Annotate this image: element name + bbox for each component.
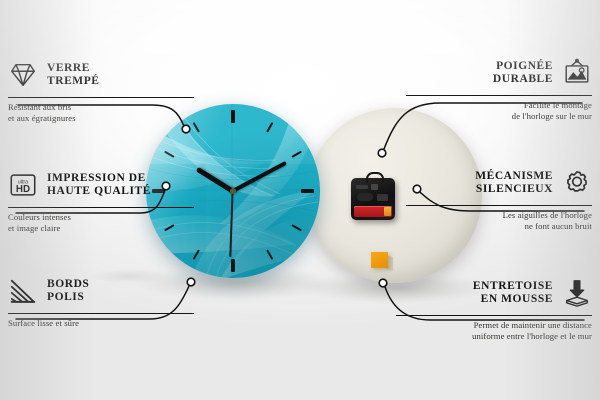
feature-impression-haute-qualite[interactable]: ultra HD IMPRESSION DE HAUTE QUALITÉ Cou…	[8, 166, 194, 233]
feature-verre-trempe[interactable]: VERRE TREMPÉ Résistant aux bris et aux é…	[8, 56, 194, 123]
feature-title: ENTRETOISE EN MOUSSE	[396, 280, 553, 307]
feature-description: Facilite le montage de l'horloge sur le …	[406, 100, 592, 121]
feature-title: MÉCANISME SILENCIEUX	[406, 170, 553, 197]
svg-text:HD: HD	[16, 184, 30, 195]
divider	[396, 315, 592, 316]
feature-bords-polis[interactable]: BORDS POLIS Surface lisse et sûre	[8, 272, 194, 329]
foam-spacer-icon	[562, 278, 592, 308]
divider	[406, 95, 592, 96]
feature-title: POIGNÉE DURABLE	[406, 60, 553, 87]
feature-description: Couleurs intenses et image claire	[8, 212, 194, 233]
feature-header: MÉCANISME SILENCIEUX	[406, 164, 592, 202]
divider	[406, 205, 592, 206]
feature-description: Les aiguilles de l'horloge ne font aucun…	[406, 210, 592, 231]
feature-poignee-durable[interactable]: POIGNÉE DURABLE Facilite le montage de l…	[406, 54, 592, 121]
divider	[8, 97, 194, 98]
infographic-canvas: VERRE TREMPÉ Résistant aux bris et aux é…	[0, 0, 600, 400]
feature-title: BORDS POLIS	[47, 278, 194, 305]
feature-mecanisme-silencieux[interactable]: MÉCANISME SILENCIEUX Les aiguilles de l'…	[406, 164, 592, 231]
connector-marker-poignee	[378, 149, 386, 157]
polished-edge-icon	[8, 276, 38, 306]
divider	[8, 313, 194, 314]
diamond-icon	[8, 60, 38, 90]
connector-marker-verre-trempe	[182, 125, 190, 133]
divider	[8, 207, 194, 208]
feature-header: ENTRETOISE EN MOUSSE	[396, 274, 592, 312]
feature-description: Résistant aux bris et aux égratignures	[8, 102, 194, 123]
ultra-hd-icon: ultra HD	[8, 170, 38, 200]
feature-title: IMPRESSION DE HAUTE QUALITÉ	[47, 172, 194, 199]
feature-title: VERRE TREMPÉ	[47, 62, 194, 89]
feature-header: BORDS POLIS	[8, 272, 194, 310]
connector-marker-entretoise	[379, 279, 387, 287]
feature-description: Permet de maintenir une distance uniform…	[396, 320, 592, 341]
gear-icon	[562, 168, 592, 198]
feature-header: ultra HD IMPRESSION DE HAUTE QUALITÉ	[8, 166, 194, 204]
feature-description: Surface lisse et sûre	[8, 318, 194, 329]
feature-entretoise-en-mousse[interactable]: ENTRETOISE EN MOUSSE Permet de maintenir…	[396, 274, 592, 341]
feature-header: VERRE TREMPÉ	[8, 56, 194, 94]
feature-header: POIGNÉE DURABLE	[406, 54, 592, 92]
hanging-frame-icon	[562, 58, 592, 88]
